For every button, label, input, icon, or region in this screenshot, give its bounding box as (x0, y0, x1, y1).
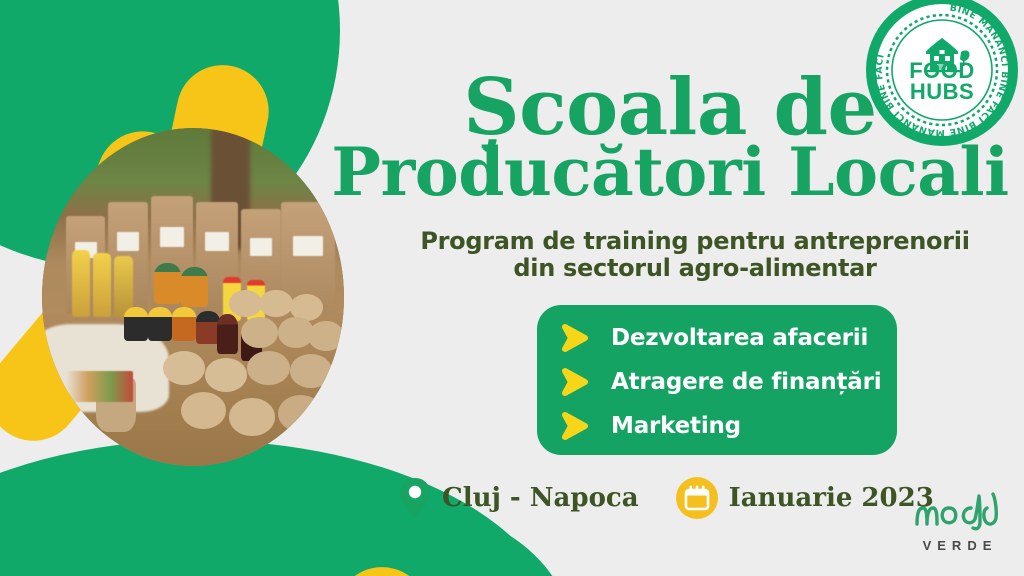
nod-verde-subtitle: VERDE (904, 538, 1010, 553)
calendar-icon (675, 476, 719, 520)
green-blob-bottom-left-2 (0, 500, 330, 576)
chevron-right-icon (559, 367, 599, 397)
nod-script-icon (909, 490, 1005, 536)
topic-item: Marketing (559, 405, 887, 447)
date-group: Ianuarie 2023 (675, 476, 934, 520)
location-label: Cluj - Napoca (442, 483, 639, 513)
topics-panel: Dezvoltarea afacerii Atragere de finanță… (537, 305, 897, 455)
chevron-right-icon (559, 411, 599, 441)
subtitle-line-1: Program de training pentru antreprenorii (420, 227, 969, 255)
topic-label: Dezvoltarea afacerii (611, 325, 868, 351)
poster-canvas: BINE MĂNÂNCI BINE FACI BINE MĂNÂNCI BINE… (0, 0, 1024, 576)
yellow-petal-shape-6 (207, 548, 447, 576)
market-photo (42, 128, 344, 466)
subtitle-line-2: din sectorul agro-alimentar (513, 254, 876, 282)
nod-verde-logo: VERDE (904, 490, 1010, 562)
topic-label: Atragere de finanțări (611, 369, 881, 395)
title-line-2: Producători Locali (330, 142, 1010, 203)
chevron-right-icon (559, 323, 599, 353)
topic-item: Atragere de finanțări (559, 361, 887, 403)
event-meta: Cluj - Napoca Ianuarie 2023 (398, 476, 970, 520)
poster-title: Școala de Producători Locali (330, 72, 1010, 202)
topics-list: Dezvoltarea afacerii Atragere de finanță… (559, 317, 887, 449)
topic-label: Marketing (611, 413, 741, 439)
topic-item: Dezvoltarea afacerii (559, 317, 887, 359)
map-pin-icon (398, 476, 432, 520)
poster-subtitle: Program de training pentru antreprenorii… (380, 228, 1010, 283)
location-group: Cluj - Napoca (398, 476, 639, 520)
